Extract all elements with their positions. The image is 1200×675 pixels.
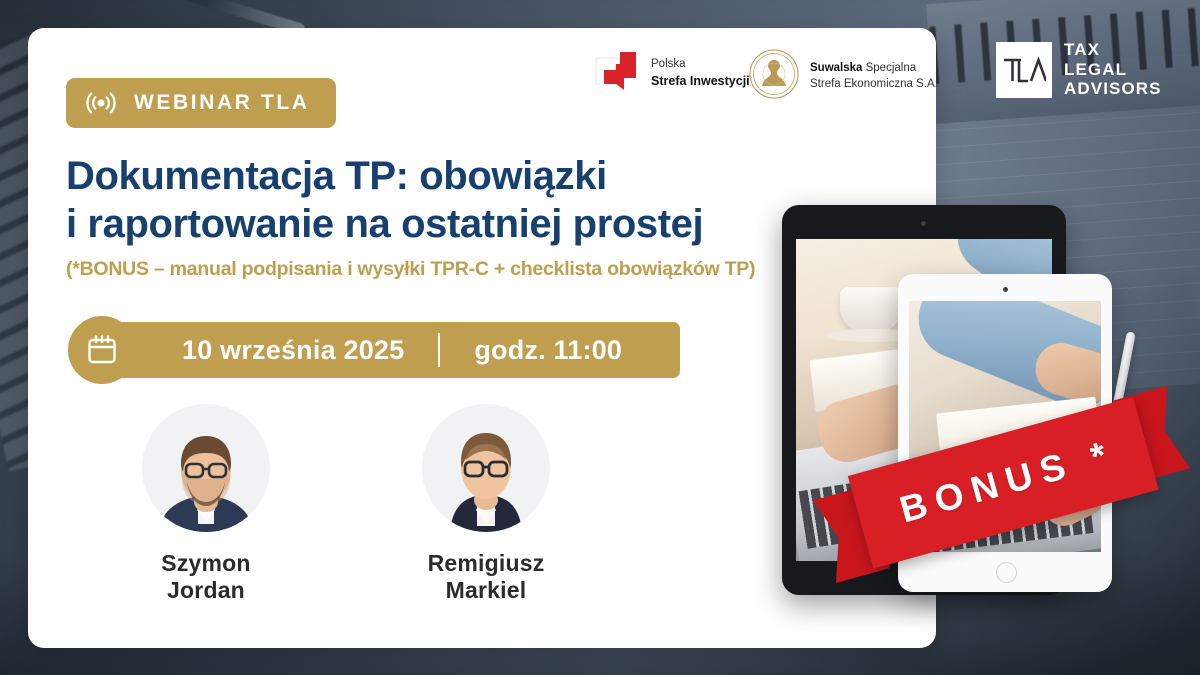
speaker-last-name: Jordan xyxy=(161,577,250,604)
polish-flag-logo xyxy=(592,48,640,99)
brand-tagline: TAX LEGAL ADVISORS xyxy=(1064,40,1162,99)
title-line-1: Dokumentacja TP: obowiązki xyxy=(66,152,786,200)
partner-ssse-line1-rest: Specjalna xyxy=(862,62,916,74)
event-datetime-bar: 10 września 2025 godz. 11:00 xyxy=(100,322,680,378)
speaker-card: Szymon Jordan xyxy=(66,404,346,604)
home-button-icon xyxy=(996,562,1017,583)
speaker-last-name: Markiel xyxy=(428,577,545,604)
title-line-2: i raportowanie na ostatniej prostej xyxy=(66,200,786,248)
camera-icon xyxy=(921,221,926,226)
speaker-name: Szymon Jordan xyxy=(161,550,250,604)
partner-psi-line1: Polska xyxy=(651,57,750,73)
partner-ssse-line2: Strefa Ekonomiczna S.A. xyxy=(810,77,938,93)
sse-seal-icon xyxy=(748,48,800,105)
speaker-first-name: Remigiusz xyxy=(428,550,545,577)
speaker-name: Remigiusz Markiel xyxy=(428,550,545,604)
calendar-icon xyxy=(68,316,136,384)
ribbon-label: BONUS * xyxy=(887,432,1120,534)
partner-ssse-text: Suwalska Specjalna Strefa Ekonomiczna S.… xyxy=(810,61,938,92)
screen-coffee-cup xyxy=(840,287,902,333)
avatar xyxy=(422,404,550,532)
datetime-separator xyxy=(438,333,440,367)
tla-monogram-icon xyxy=(996,42,1052,98)
event-date: 10 września 2025 xyxy=(182,335,404,366)
partner-logo-psi: Polska Strefa Inwestycji xyxy=(592,48,750,99)
brand-line-1: TAX xyxy=(1064,40,1162,60)
partner-logo-ssse: Suwalska Specjalna Strefa Ekonomiczna S.… xyxy=(748,48,938,105)
speaker-first-name: Szymon xyxy=(161,550,250,577)
webinar-promo-banner: WEBINAR TLA Dokumentacja TP: obowiązki i… xyxy=(0,0,1200,675)
brand-logo-tla: TAX LEGAL ADVISORS xyxy=(996,40,1162,99)
camera-icon xyxy=(1003,287,1008,292)
page-subtitle: (*BONUS – manual podpisania i wysyłki TP… xyxy=(66,258,826,281)
partner-psi-text: Polska Strefa Inwestycji xyxy=(651,57,750,90)
brand-line-2: LEGAL xyxy=(1064,60,1162,80)
partner-ssse-line1: Suwalska Specjalna xyxy=(810,61,938,77)
speakers-list: Szymon Jordan xyxy=(66,404,666,604)
broadcast-icon xyxy=(86,90,116,116)
page-title: Dokumentacja TP: obowiązki i raportowani… xyxy=(66,152,786,249)
webinar-badge-label: WEBINAR TLA xyxy=(134,91,310,115)
speaker-card: Remigiusz Markiel xyxy=(346,404,626,604)
event-time: godz. 11:00 xyxy=(474,335,622,366)
webinar-badge: WEBINAR TLA xyxy=(66,78,336,128)
brand-line-3: ADVISORS xyxy=(1064,79,1162,99)
avatar xyxy=(142,404,270,532)
partner-psi-line2: Strefa Inwestycji xyxy=(651,74,750,88)
partner-ssse-line1-bold: Suwalska xyxy=(810,62,862,74)
